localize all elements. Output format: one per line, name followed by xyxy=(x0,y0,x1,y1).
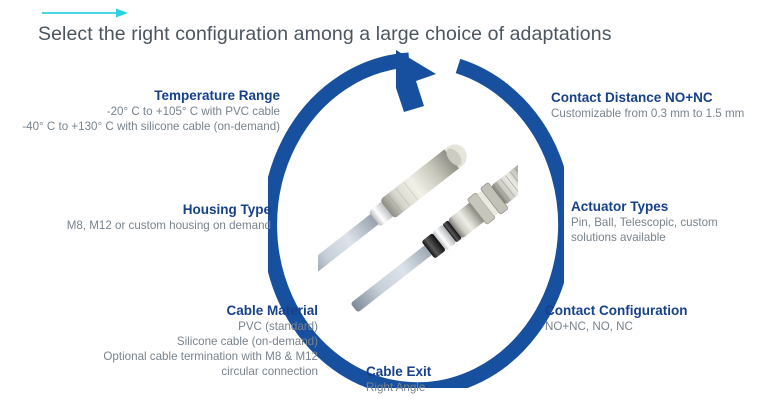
callout-line: Right Angle xyxy=(366,380,431,395)
callout-housing-type: Housing Type M8, M12 or custom housing o… xyxy=(67,202,271,233)
callout-title: Actuator Types xyxy=(571,199,718,215)
page-title: Select the right configuration among a l… xyxy=(38,23,612,46)
callout-line: -40° C to +130° C with silicone cable (o… xyxy=(22,119,280,134)
callout-line: Customizable from 0.3 mm to 1.5 mm xyxy=(551,106,744,121)
callout-line: Silicone cable (on-demand) xyxy=(103,334,318,349)
callout-line: Pin, Ball, Telescopic, custom xyxy=(571,215,718,230)
proximity-sensor-photo xyxy=(318,122,518,322)
callout-cable-exit: Cable Exit Right Angle xyxy=(366,364,431,395)
callout-cable-material: Cable Material PVC (standard) Silicone c… xyxy=(103,303,318,379)
infographic-canvas: Select the right configuration among a l… xyxy=(0,0,774,401)
callout-temperature-range: Temperature Range -20° C to +105° C with… xyxy=(22,88,280,134)
callout-line: PVC (standard) xyxy=(103,319,318,334)
callout-title: Temperature Range xyxy=(22,88,280,104)
callout-line: -20° C to +105° C with PVC cable xyxy=(22,104,280,119)
callout-title: Contact Distance NO+NC xyxy=(551,90,744,106)
callout-title: Cable Material xyxy=(103,303,318,319)
callout-actuator-types: Actuator Types Pin, Ball, Telescopic, cu… xyxy=(571,199,718,245)
callout-line: circular connection xyxy=(103,364,318,379)
callout-line: Optional cable termination with M8 & M12 xyxy=(103,349,318,364)
callout-contact-distance: Contact Distance NO+NC Customizable from… xyxy=(551,90,744,121)
right-arrow-icon xyxy=(42,6,128,20)
callout-contact-configuration: Contact Configuration NO+NC, NO, NC xyxy=(545,303,687,334)
callout-title: Housing Type xyxy=(67,202,271,218)
callout-line: M8, M12 or custom housing on demand xyxy=(67,218,271,233)
callout-title: Cable Exit xyxy=(366,364,431,380)
callout-line: NO+NC, NO, NC xyxy=(545,319,687,334)
callout-title: Contact Configuration xyxy=(545,303,687,319)
callout-line: solutions available xyxy=(571,230,718,245)
